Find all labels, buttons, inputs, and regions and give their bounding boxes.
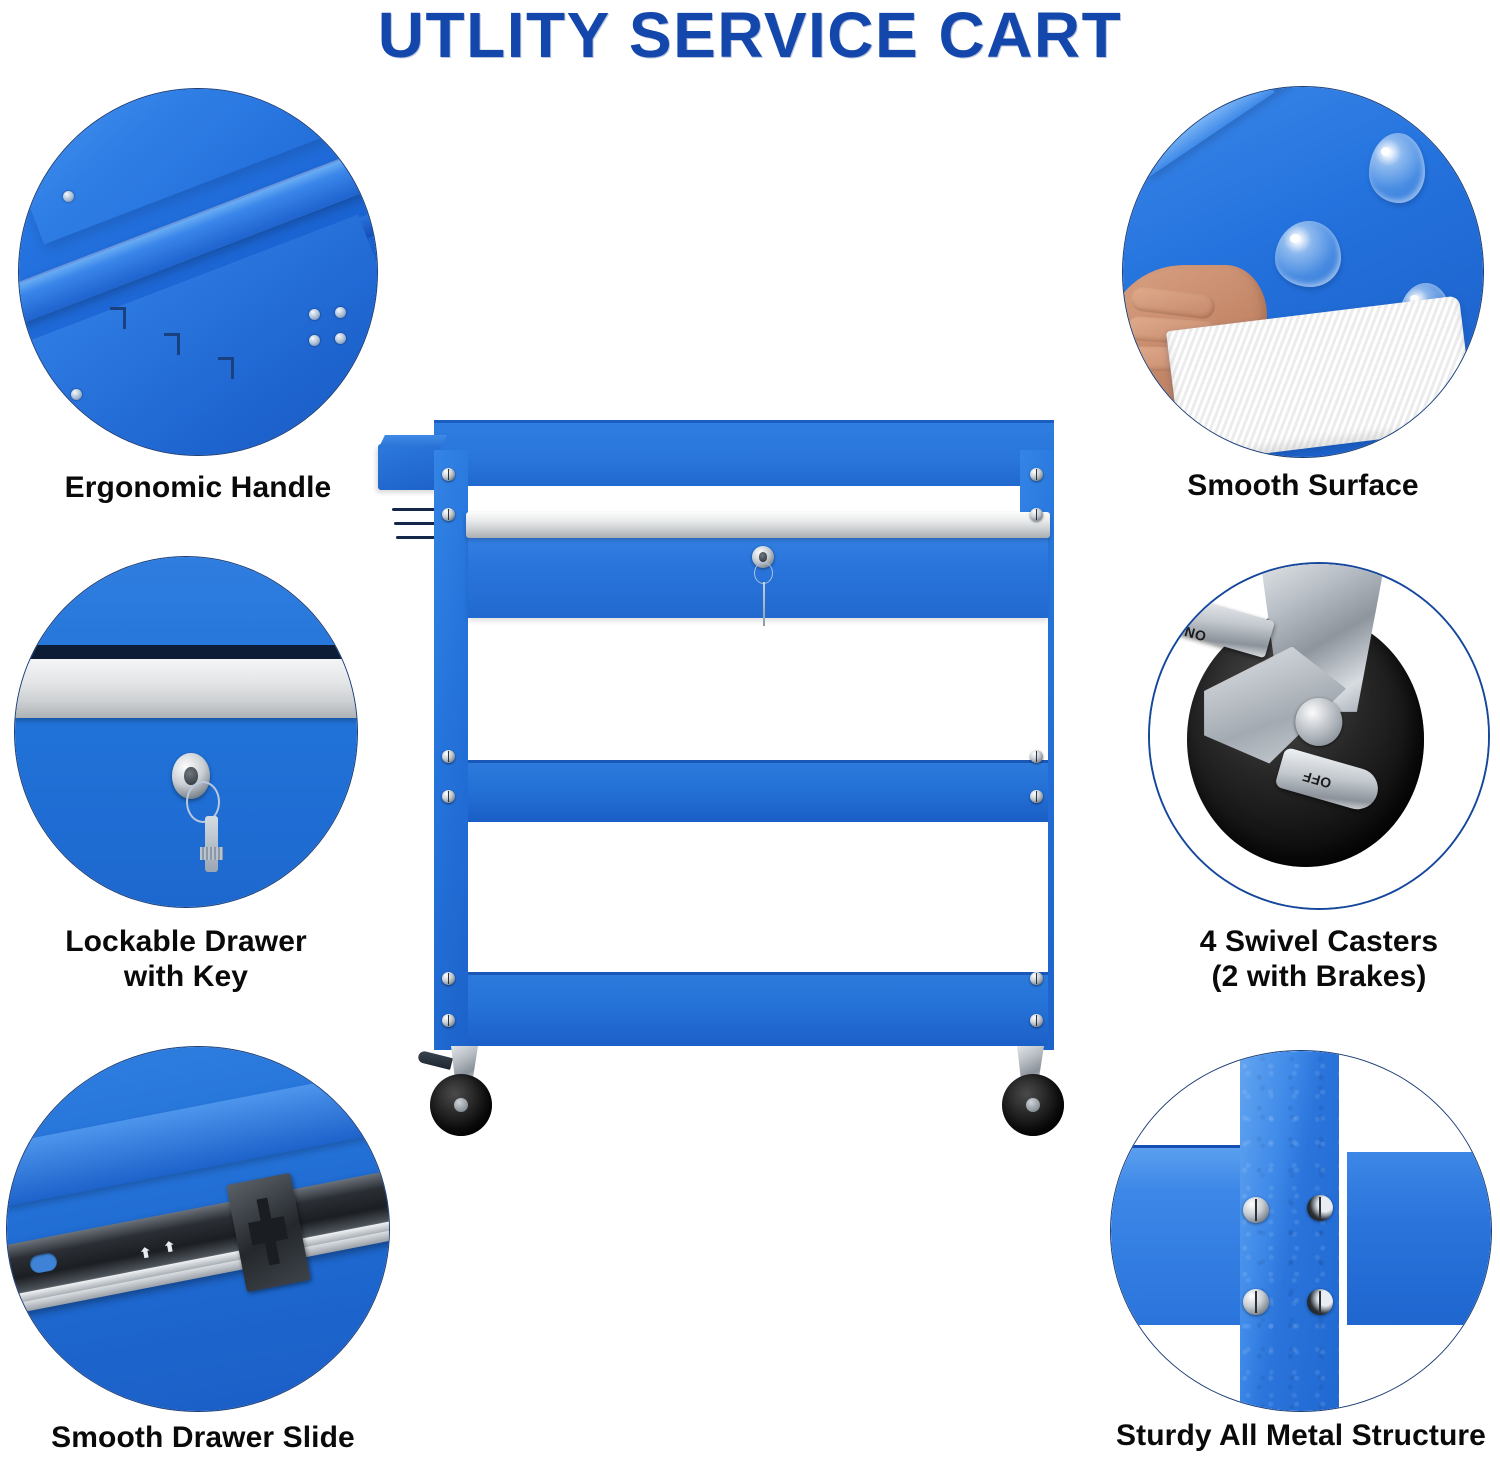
lockable-drawer-caption: Lockable Drawer with Key xyxy=(8,924,364,995)
cart-shelf-gap-upper xyxy=(468,618,1048,760)
tool-hook-icon xyxy=(231,357,234,379)
infographic-page: UTLITY SERVICE CART Ergonomic Handle xyxy=(0,0,1500,1476)
smooth-surface-caption: Smooth Surface xyxy=(1118,468,1488,503)
feature-drawer-slide: Smooth Drawer Slide xyxy=(6,1046,390,1412)
feature-lockable-drawer: Lockable Drawer with Key xyxy=(14,556,358,908)
metal-structure-caption: Sturdy All Metal Structure xyxy=(1086,1418,1500,1453)
cart-shelf-gap-lower xyxy=(468,822,1048,972)
ergonomic-handle-caption: Ergonomic Handle xyxy=(16,470,380,505)
cart-drawer-pull xyxy=(466,512,1050,538)
cart-key-icon xyxy=(763,582,766,626)
rivet-icon xyxy=(1307,1289,1333,1315)
key-icon xyxy=(205,816,219,872)
cart-key-ring-icon xyxy=(754,562,773,584)
product-image-utility-cart xyxy=(378,420,1108,1160)
cart-push-handle xyxy=(378,444,440,490)
swivel-caster-image: ON OFF xyxy=(1148,562,1490,910)
feature-ergonomic-handle: Ergonomic Handle xyxy=(18,88,378,456)
lockable-drawer-image xyxy=(14,556,358,908)
feature-swivel-casters: ON OFF 4 Swivel Casters (2 with Brakes) xyxy=(1148,562,1490,910)
cart-top-tray xyxy=(434,420,1054,486)
feature-smooth-surface: Smooth Surface xyxy=(1122,86,1484,458)
drawer-slide-image xyxy=(6,1046,390,1412)
drawer-pull-bar xyxy=(15,659,357,719)
rivet-icon xyxy=(1307,1195,1333,1221)
tool-hook-icon xyxy=(177,333,180,355)
rivet-icon xyxy=(1243,1289,1269,1315)
page-title: UTLITY SERVICE CART xyxy=(0,0,1500,72)
cart-middle-shelf xyxy=(468,760,1048,822)
rivet-icon xyxy=(1243,1197,1269,1223)
smooth-surface-image xyxy=(1122,86,1484,458)
water-droplet-icon xyxy=(1369,133,1425,203)
swivel-casters-caption: 4 Swivel Casters (2 with Brakes) xyxy=(1142,924,1496,995)
ergonomic-handle-image xyxy=(18,88,378,456)
water-droplet-icon xyxy=(1275,221,1341,287)
cart-bottom-shelf xyxy=(468,972,1048,1046)
metal-structure-image xyxy=(1110,1050,1492,1412)
tool-hook-icon xyxy=(123,307,126,329)
feature-metal-structure: Sturdy All Metal Structure xyxy=(1110,1050,1492,1412)
drawer-slide-caption: Smooth Drawer Slide xyxy=(6,1420,400,1455)
